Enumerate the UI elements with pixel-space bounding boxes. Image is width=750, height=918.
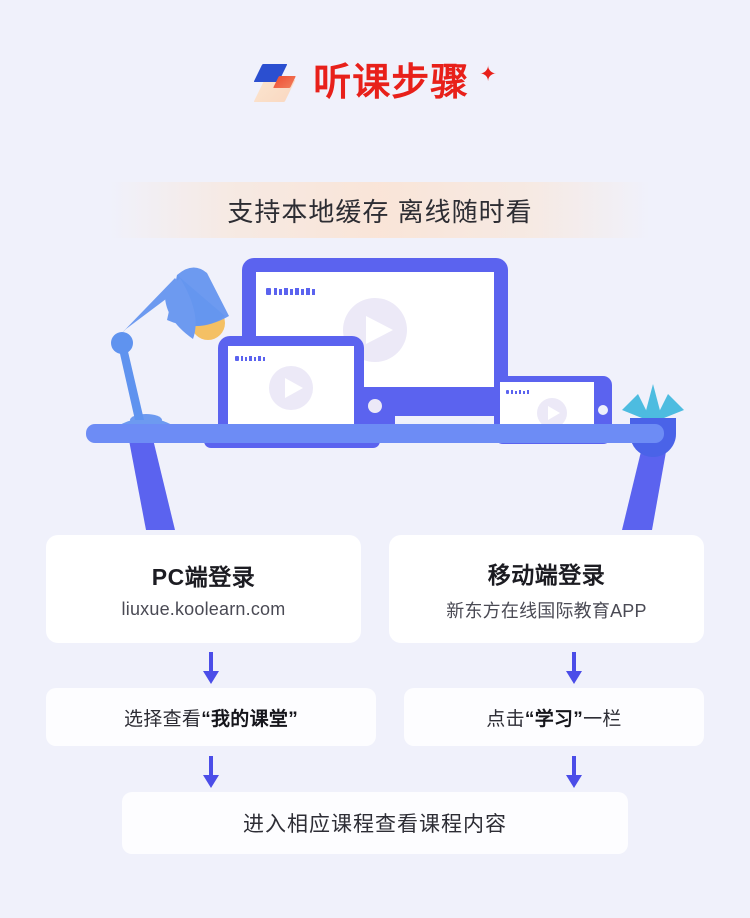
step-box-left[interactable]: 选择查看“我的课堂” xyxy=(46,688,376,746)
header-inner: 听课步骤 ✦ xyxy=(253,62,497,104)
tablet-home-button xyxy=(598,405,608,415)
arrow-down-icon-left-2 xyxy=(198,754,224,790)
potted-plant-icon xyxy=(622,384,684,457)
subtitle-banner: 支持本地缓存 离线随时看 xyxy=(110,182,650,238)
pc-login-card-title: PC端登录 xyxy=(152,558,255,592)
step-right-quote-close: ” xyxy=(573,709,583,730)
final-step-box[interactable]: 进入相应课程查看课程内容 xyxy=(122,792,628,854)
step-left-quote-open: “ xyxy=(201,709,211,730)
brand-logo-icon xyxy=(253,62,299,104)
step-right-prefix: 点击 xyxy=(486,709,525,730)
arrow-down-icon-right-1 xyxy=(561,650,587,686)
step-right-emphasis: 学习 xyxy=(535,709,574,730)
desk-devices-illustration xyxy=(0,250,750,535)
mobile-login-card[interactable]: 移动端登录 新东方在线国际教育APP xyxy=(389,535,704,643)
step-right-text: 点击“学习”一栏 xyxy=(486,704,621,731)
mobile-login-card-app: 新东方在线国际教育APP xyxy=(446,597,646,623)
step-left-emphasis: 我的课堂 xyxy=(211,709,288,730)
pc-login-card[interactable]: PC端登录 liuxue.koolearn.com xyxy=(46,535,361,643)
desk-leg-left xyxy=(128,435,175,530)
final-step-text: 进入相应课程查看课程内容 xyxy=(243,808,507,838)
monitor-power-dot xyxy=(368,399,382,413)
step-right-quote-open: “ xyxy=(525,709,535,730)
desk-lamp-icon xyxy=(108,267,229,440)
login-cards-row: PC端登录 liuxue.koolearn.com 移动端登录 新东方在线国际教… xyxy=(46,535,704,643)
page-header: 听课步骤 ✦ xyxy=(0,0,750,165)
arrow-down-icon-right-2 xyxy=(561,754,587,790)
mobile-login-card-title: 移动端登录 xyxy=(488,556,606,590)
sparkle-icon: ✦ xyxy=(479,64,497,85)
arrow-down-icon-left-1 xyxy=(198,650,224,686)
desk-top xyxy=(86,424,664,443)
subtitle-text: 支持本地缓存 离线随时看 xyxy=(227,192,532,229)
step-right-suffix: 一栏 xyxy=(583,709,622,730)
step-left-prefix: 选择查看 xyxy=(124,709,201,730)
page-title: 听课步骤 xyxy=(313,64,469,102)
pc-login-card-url: liuxue.koolearn.com xyxy=(122,599,286,620)
step-left-quote-close: ” xyxy=(288,709,298,730)
step-left-text: 选择查看“我的课堂” xyxy=(124,704,298,731)
step-box-right[interactable]: 点击“学习”一栏 xyxy=(404,688,704,746)
